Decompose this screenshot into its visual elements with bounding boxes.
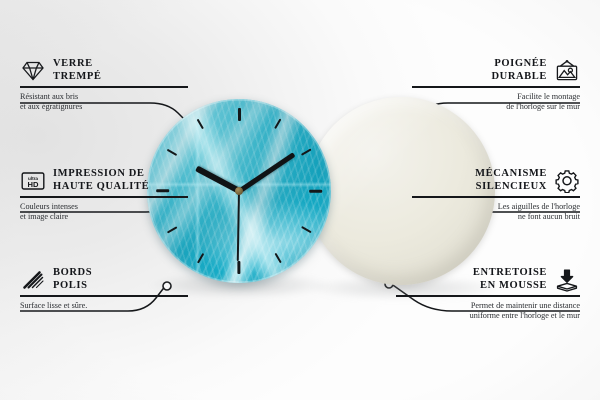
callout-title: BORDS POLIS (53, 267, 92, 292)
callout-subtitle: Facilite le montage de l'horloge sur le … (412, 92, 580, 113)
callout-rule (20, 295, 188, 297)
callout-title: MÉCANISME SILENCIEUX (475, 168, 547, 193)
picture-hanger-icon (554, 59, 580, 83)
callout-header: MÉCANISME SILENCIEUX (412, 168, 580, 193)
callout-verre-trempe: VERRE TREMPÉ Résistant aux bris et aux é… (20, 58, 188, 113)
callout-title: IMPRESSION DE HAUTE QUALITÉ (53, 168, 149, 193)
callout-title: ENTRETOISE EN MOUSSE (473, 267, 547, 292)
callout-header: VERRE TREMPÉ (20, 58, 188, 83)
callout-title: VERRE TREMPÉ (53, 58, 102, 83)
callout-bords-polis: BORDS POLIS Surface lisse et sûre. (20, 267, 188, 311)
callout-header: ultra HD IMPRESSION DE HAUTE QUALITÉ (20, 168, 188, 193)
callout-subtitle: Permet de maintenir une distance uniform… (396, 301, 580, 322)
callout-rule (20, 86, 188, 88)
foam-spacer-icon (554, 268, 580, 292)
callout-entretoise-en-mousse: ENTRETOISE EN MOUSSE Permet de maintenir… (396, 267, 580, 322)
callout-subtitle: Résistant aux bris et aux égratignures (20, 92, 188, 113)
callout-mecanisme-silencieux: MÉCANISME SILENCIEUX Les aiguilles de l'… (412, 168, 580, 223)
ultra-hd-icon: ultra HD (20, 169, 46, 193)
polished-edges-icon (20, 268, 46, 292)
callout-subtitle: Couleurs intenses et image claire (20, 202, 188, 223)
callout-subtitle: Les aiguilles de l'horloge ne font aucun… (412, 202, 580, 223)
infographic-canvas: VERRE TREMPÉ Résistant aux bris et aux é… (0, 0, 600, 400)
callout-subtitle: Surface lisse et sûre. (20, 301, 188, 312)
callout-header: BORDS POLIS (20, 267, 188, 292)
hands-hub (235, 187, 243, 195)
callout-header: ENTRETOISE EN MOUSSE (396, 267, 580, 292)
svg-text:HD: HD (28, 180, 39, 189)
callout-header: POIGNÉE DURABLE (412, 58, 580, 83)
callout-rule (412, 86, 580, 88)
callout-impression-haute-qualite: ultra HD IMPRESSION DE HAUTE QUALITÉ Cou… (20, 168, 188, 223)
gear-icon (554, 169, 580, 193)
callout-poignee-durable: POIGNÉE DURABLE Facilite le montage de l… (412, 58, 580, 113)
diamond-icon (20, 59, 46, 83)
callout-rule (20, 196, 188, 198)
callout-rule (396, 295, 580, 297)
callout-title: POIGNÉE DURABLE (491, 58, 547, 83)
callout-rule (412, 196, 580, 198)
